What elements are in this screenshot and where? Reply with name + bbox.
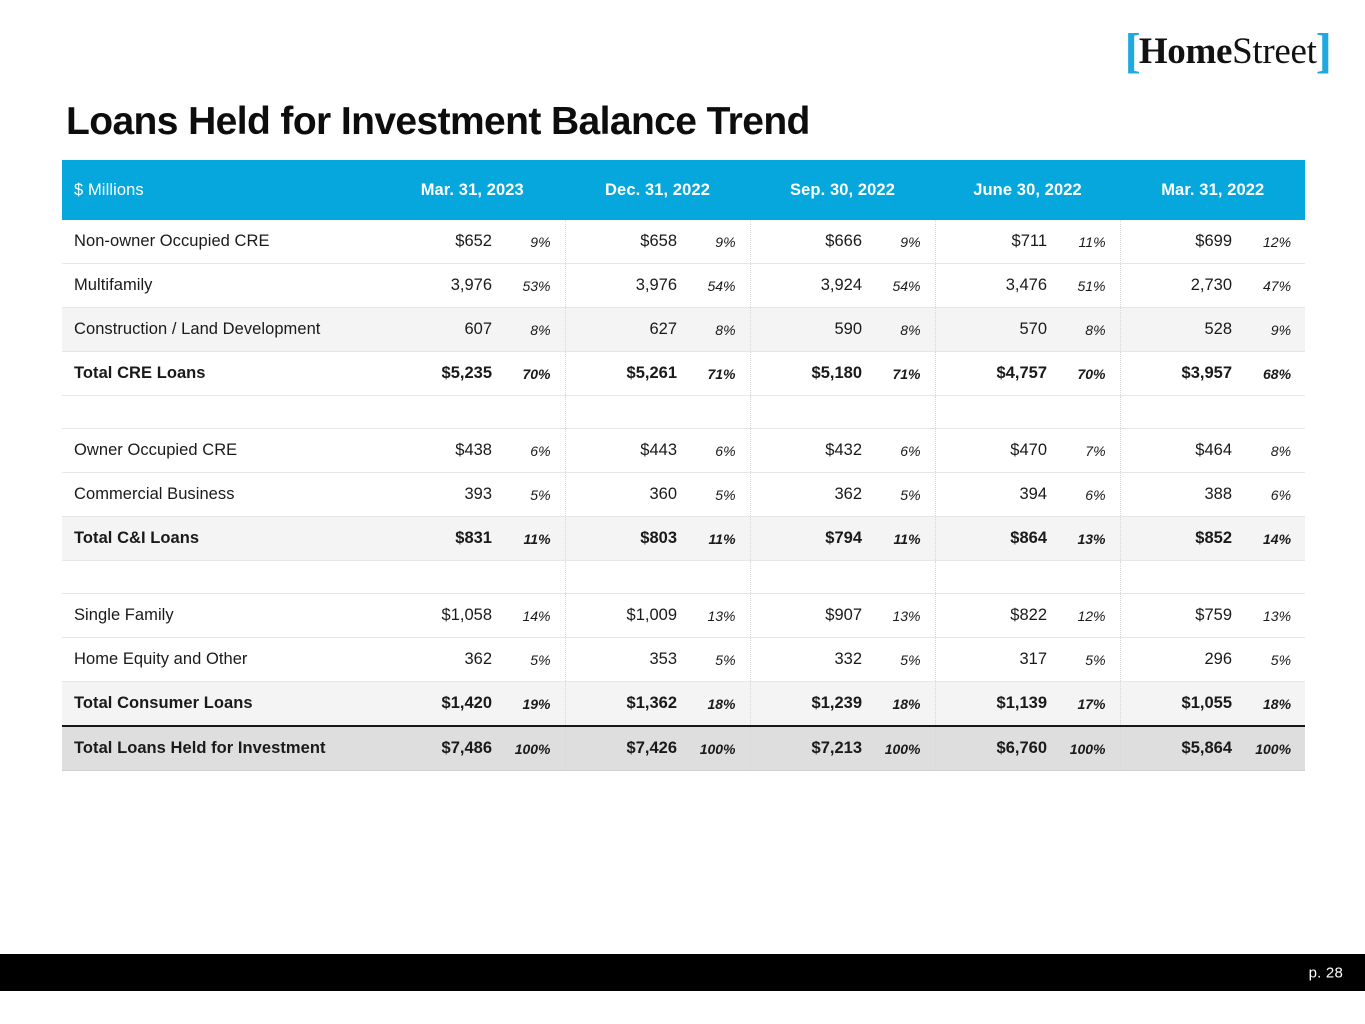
cell-percent: 6%	[683, 429, 750, 473]
cell-value: 388	[1120, 473, 1238, 517]
cell-value: $5,235	[380, 352, 498, 396]
cell-percent: 11%	[868, 517, 935, 561]
cell-percent	[683, 396, 750, 429]
cell-value: $652	[380, 220, 498, 264]
table-spacer-row	[62, 396, 1305, 429]
cell-percent: 17%	[1053, 682, 1120, 727]
column-header-period-1: Dec. 31, 2022	[565, 160, 750, 220]
cell-percent: 100%	[1238, 726, 1305, 771]
cell-value: $443	[565, 429, 683, 473]
cell-value: $658	[565, 220, 683, 264]
row-label: Commercial Business	[62, 473, 380, 517]
cell-value: $1,009	[565, 594, 683, 638]
table-row: Total C&I Loans$83111%$80311%$79411%$864…	[62, 517, 1305, 561]
table-row: Owner Occupied CRE$4386%$4436%$4326%$470…	[62, 429, 1305, 473]
cell-value	[565, 396, 683, 429]
row-label: Single Family	[62, 594, 380, 638]
cell-value	[1120, 561, 1238, 594]
cell-value: $4,757	[935, 352, 1053, 396]
cell-value: $711	[935, 220, 1053, 264]
cell-percent: 11%	[683, 517, 750, 561]
table-header-row: $ Millions Mar. 31, 2023 Dec. 31, 2022 S…	[62, 160, 1305, 220]
table-row: Total Loans Held for Investment$7,486100…	[62, 726, 1305, 771]
cell-value	[750, 396, 868, 429]
cell-value: $1,055	[1120, 682, 1238, 727]
cell-percent	[868, 561, 935, 594]
cell-percent: 54%	[683, 264, 750, 308]
cell-value: $470	[935, 429, 1053, 473]
cell-value: $5,864	[1120, 726, 1238, 771]
cell-value: $7,426	[565, 726, 683, 771]
cell-percent: 9%	[498, 220, 565, 264]
cell-percent: 14%	[1238, 517, 1305, 561]
cell-percent: 100%	[498, 726, 565, 771]
row-label: Construction / Land Development	[62, 308, 380, 352]
cell-percent: 5%	[498, 638, 565, 682]
cell-percent	[868, 396, 935, 429]
cell-percent: 6%	[868, 429, 935, 473]
cell-percent: 11%	[1053, 220, 1120, 264]
page-number: p. 28	[1309, 964, 1343, 981]
cell-value: $831	[380, 517, 498, 561]
cell-value: 607	[380, 308, 498, 352]
cell-percent: 100%	[683, 726, 750, 771]
cell-value	[750, 561, 868, 594]
cell-value: $1,058	[380, 594, 498, 638]
cell-percent: 8%	[868, 308, 935, 352]
cell-value: $6,760	[935, 726, 1053, 771]
cell-value: $907	[750, 594, 868, 638]
cell-value: $1,239	[750, 682, 868, 727]
cell-percent: 9%	[868, 220, 935, 264]
row-label: Owner Occupied CRE	[62, 429, 380, 473]
table-row: Home Equity and Other3625%3535%3325%3175…	[62, 638, 1305, 682]
cell-percent: 12%	[1053, 594, 1120, 638]
cell-value	[1120, 396, 1238, 429]
row-label: Total CRE Loans	[62, 352, 380, 396]
cell-percent: 18%	[683, 682, 750, 727]
cell-value: $1,362	[565, 682, 683, 727]
table-row: Total Consumer Loans$1,42019%$1,36218%$1…	[62, 682, 1305, 727]
cell-percent: 18%	[1238, 682, 1305, 727]
cell-percent: 5%	[868, 638, 935, 682]
cell-value: 590	[750, 308, 868, 352]
cell-percent: 51%	[1053, 264, 1120, 308]
cell-percent: 5%	[1238, 638, 1305, 682]
cell-value: 2,730	[1120, 264, 1238, 308]
cell-value: $699	[1120, 220, 1238, 264]
page-title: Loans Held for Investment Balance Trend	[66, 100, 810, 144]
table-spacer-row	[62, 561, 1305, 594]
column-header-period-2: Sep. 30, 2022	[750, 160, 935, 220]
cell-value: 3,976	[380, 264, 498, 308]
cell-value: $432	[750, 429, 868, 473]
cell-value: 3,976	[565, 264, 683, 308]
cell-value	[935, 561, 1053, 594]
cell-percent: 47%	[1238, 264, 1305, 308]
cell-value: $3,957	[1120, 352, 1238, 396]
row-label: Total Loans Held for Investment	[62, 726, 380, 771]
cell-percent: 5%	[868, 473, 935, 517]
cell-value: 296	[1120, 638, 1238, 682]
cell-percent: 71%	[683, 352, 750, 396]
cell-value: 360	[565, 473, 683, 517]
cell-percent: 6%	[498, 429, 565, 473]
cell-percent: 5%	[1053, 638, 1120, 682]
logo-bracket-left: [	[1125, 28, 1140, 75]
cell-value: 362	[380, 638, 498, 682]
cell-value: $666	[750, 220, 868, 264]
cell-percent: 7%	[1053, 429, 1120, 473]
cell-percent	[1238, 396, 1305, 429]
cell-value: $1,420	[380, 682, 498, 727]
homestreet-logo: [ Home Street ]	[1125, 28, 1332, 75]
cell-value: $7,486	[380, 726, 498, 771]
cell-percent: 70%	[498, 352, 565, 396]
cell-percent: 18%	[868, 682, 935, 727]
cell-value: $1,139	[935, 682, 1053, 727]
cell-value: 394	[935, 473, 1053, 517]
logo-bracket-right: ]	[1316, 28, 1331, 75]
cell-percent: 8%	[498, 308, 565, 352]
cell-value: $852	[1120, 517, 1238, 561]
cell-value: $5,261	[565, 352, 683, 396]
column-header-period-0: Mar. 31, 2023	[380, 160, 565, 220]
cell-percent: 9%	[683, 220, 750, 264]
row-label: Total Consumer Loans	[62, 682, 380, 727]
table-body: Non-owner Occupied CRE$6529%$6589%$6669%…	[62, 220, 1305, 771]
table-head: $ Millions Mar. 31, 2023 Dec. 31, 2022 S…	[62, 160, 1305, 220]
cell-percent: 13%	[1238, 594, 1305, 638]
cell-percent: 100%	[868, 726, 935, 771]
cell-value: 353	[565, 638, 683, 682]
row-label: Multifamily	[62, 264, 380, 308]
cell-percent: 100%	[1053, 726, 1120, 771]
loans-balance-table: $ Millions Mar. 31, 2023 Dec. 31, 2022 S…	[62, 160, 1305, 771]
cell-value: $464	[1120, 429, 1238, 473]
table-row: Commercial Business3935%3605%3625%3946%3…	[62, 473, 1305, 517]
cell-value: $822	[935, 594, 1053, 638]
footer-bar: p. 28	[0, 954, 1365, 991]
row-label	[62, 396, 380, 429]
cell-value	[935, 396, 1053, 429]
cell-value: 332	[750, 638, 868, 682]
cell-value: 627	[565, 308, 683, 352]
cell-value: 362	[750, 473, 868, 517]
cell-percent: 70%	[1053, 352, 1120, 396]
logo-wordmark-home: Home	[1139, 33, 1232, 70]
cell-value: $438	[380, 429, 498, 473]
cell-percent: 6%	[1053, 473, 1120, 517]
row-label	[62, 561, 380, 594]
cell-value: $803	[565, 517, 683, 561]
cell-percent: 68%	[1238, 352, 1305, 396]
cell-percent: 5%	[498, 473, 565, 517]
table-row: Construction / Land Development6078%6278…	[62, 308, 1305, 352]
cell-percent: 9%	[1238, 308, 1305, 352]
table-row: Multifamily3,97653%3,97654%3,92454%3,476…	[62, 264, 1305, 308]
cell-value: 317	[935, 638, 1053, 682]
row-label: Total C&I Loans	[62, 517, 380, 561]
cell-percent: 5%	[683, 638, 750, 682]
column-header-period-3: June 30, 2022	[935, 160, 1120, 220]
cell-value: $7,213	[750, 726, 868, 771]
cell-value	[565, 561, 683, 594]
cell-percent	[1238, 561, 1305, 594]
loans-balance-table-container: $ Millions Mar. 31, 2023 Dec. 31, 2022 S…	[62, 160, 1305, 771]
table-row: Single Family$1,05814%$1,00913%$90713%$8…	[62, 594, 1305, 638]
cell-percent	[498, 396, 565, 429]
cell-percent: 8%	[1053, 308, 1120, 352]
cell-percent: 11%	[498, 517, 565, 561]
cell-percent	[1053, 396, 1120, 429]
cell-percent: 5%	[683, 473, 750, 517]
cell-percent: 8%	[683, 308, 750, 352]
cell-value: $5,180	[750, 352, 868, 396]
cell-percent: 54%	[868, 264, 935, 308]
cell-percent	[1053, 561, 1120, 594]
cell-percent: 53%	[498, 264, 565, 308]
cell-percent: 71%	[868, 352, 935, 396]
cell-percent	[683, 561, 750, 594]
cell-percent: 12%	[1238, 220, 1305, 264]
cell-value: $864	[935, 517, 1053, 561]
cell-percent: 13%	[868, 594, 935, 638]
cell-value	[380, 396, 498, 429]
cell-percent	[498, 561, 565, 594]
cell-percent: 6%	[1238, 473, 1305, 517]
cell-value	[380, 561, 498, 594]
cell-percent: 19%	[498, 682, 565, 727]
logo-wordmark-street: Street	[1232, 33, 1317, 70]
cell-value: $794	[750, 517, 868, 561]
cell-value: 3,924	[750, 264, 868, 308]
row-label: Non-owner Occupied CRE	[62, 220, 380, 264]
cell-percent: 14%	[498, 594, 565, 638]
column-header-period-4: Mar. 31, 2022	[1120, 160, 1305, 220]
column-header-units: $ Millions	[62, 160, 380, 220]
table-row: Non-owner Occupied CRE$6529%$6589%$6669%…	[62, 220, 1305, 264]
cell-percent: 13%	[683, 594, 750, 638]
cell-percent: 13%	[1053, 517, 1120, 561]
table-row: Total CRE Loans$5,23570%$5,26171%$5,1807…	[62, 352, 1305, 396]
cell-percent: 8%	[1238, 429, 1305, 473]
cell-value: $759	[1120, 594, 1238, 638]
cell-value: 570	[935, 308, 1053, 352]
row-label: Home Equity and Other	[62, 638, 380, 682]
cell-value: 393	[380, 473, 498, 517]
cell-value: 528	[1120, 308, 1238, 352]
cell-value: 3,476	[935, 264, 1053, 308]
